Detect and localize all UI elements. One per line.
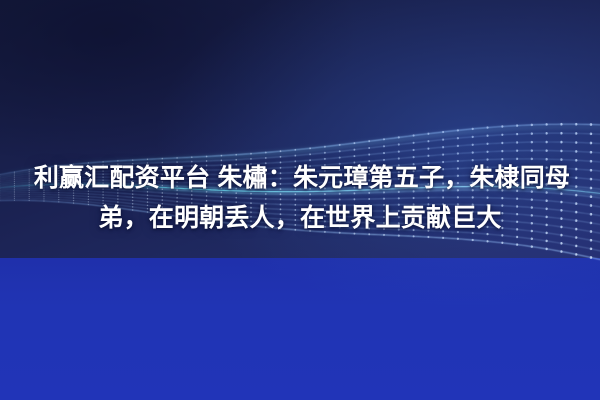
headline-line-1: 利赢汇配资平台 朱橚：朱元璋第五子，朱棣同母 <box>0 158 600 198</box>
headline-line-2: 弟，在明朝丢人，在世界上贡献巨大 <box>0 198 600 238</box>
banner-image: 利赢汇配资平台 朱橚：朱元璋第五子，朱棣同母 弟，在明朝丢人，在世界上贡献巨大 <box>0 0 600 400</box>
headline-text: 利赢汇配资平台 朱橚：朱元璋第五子，朱棣同母 弟，在明朝丢人，在世界上贡献巨大 <box>0 158 600 238</box>
